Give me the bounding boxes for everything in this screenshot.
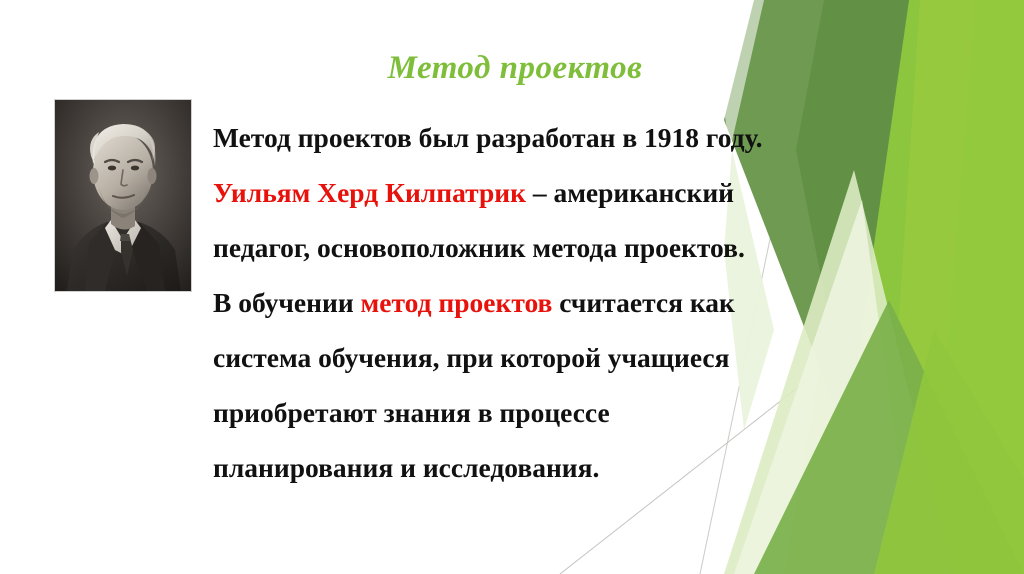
portrait-photo-image [55,100,191,291]
body-line-4: В обучении метод проектов считается как [213,275,828,330]
decor-shape-bright-column [882,0,1024,574]
body-line-7: планирования и исследования. [213,440,828,495]
highlight-kilpatrick-name: Уильям Херд Килпатрик [213,177,526,208]
slide-canvas: Метод проектов Метод проектов был разраб… [0,0,1024,574]
body-line-4-text-a: В обучении [213,287,361,318]
body-line-2-text: – американский [526,177,734,208]
decor-shape-lime-bottom [874,330,1024,574]
body-line-4-text-c: считается как [552,287,735,318]
body-line-3-text: педагог, основоположник метода проектов. [213,232,745,263]
body-line-3: педагог, основоположник метода проектов. [213,220,828,275]
highlight-method-projects: метод проектов [361,287,553,318]
portrait-photo [55,100,191,291]
body-line-5: система обучения, при которой учащиеся [213,330,828,385]
slide-title: Метод проектов [215,50,815,87]
body-line-2: Уильям Херд Килпатрик – американский [213,165,828,220]
slide-body-text: Метод проектов был разработан в 1918 год… [213,110,828,495]
body-line-1: Метод проектов был разработан в 1918 год… [213,110,828,165]
body-line-6: приобретают знания в процессе [213,385,828,440]
body-line-7-text: планирования и исследования. [213,452,599,483]
body-line-1-text: Метод проектов был разработан в 1918 год… [213,122,762,153]
decor-shape-right-slab [929,0,1024,574]
body-line-6-text: приобретают знания в процессе [213,397,610,428]
body-line-5-text: система обучения, при которой учащиеся [213,342,729,373]
